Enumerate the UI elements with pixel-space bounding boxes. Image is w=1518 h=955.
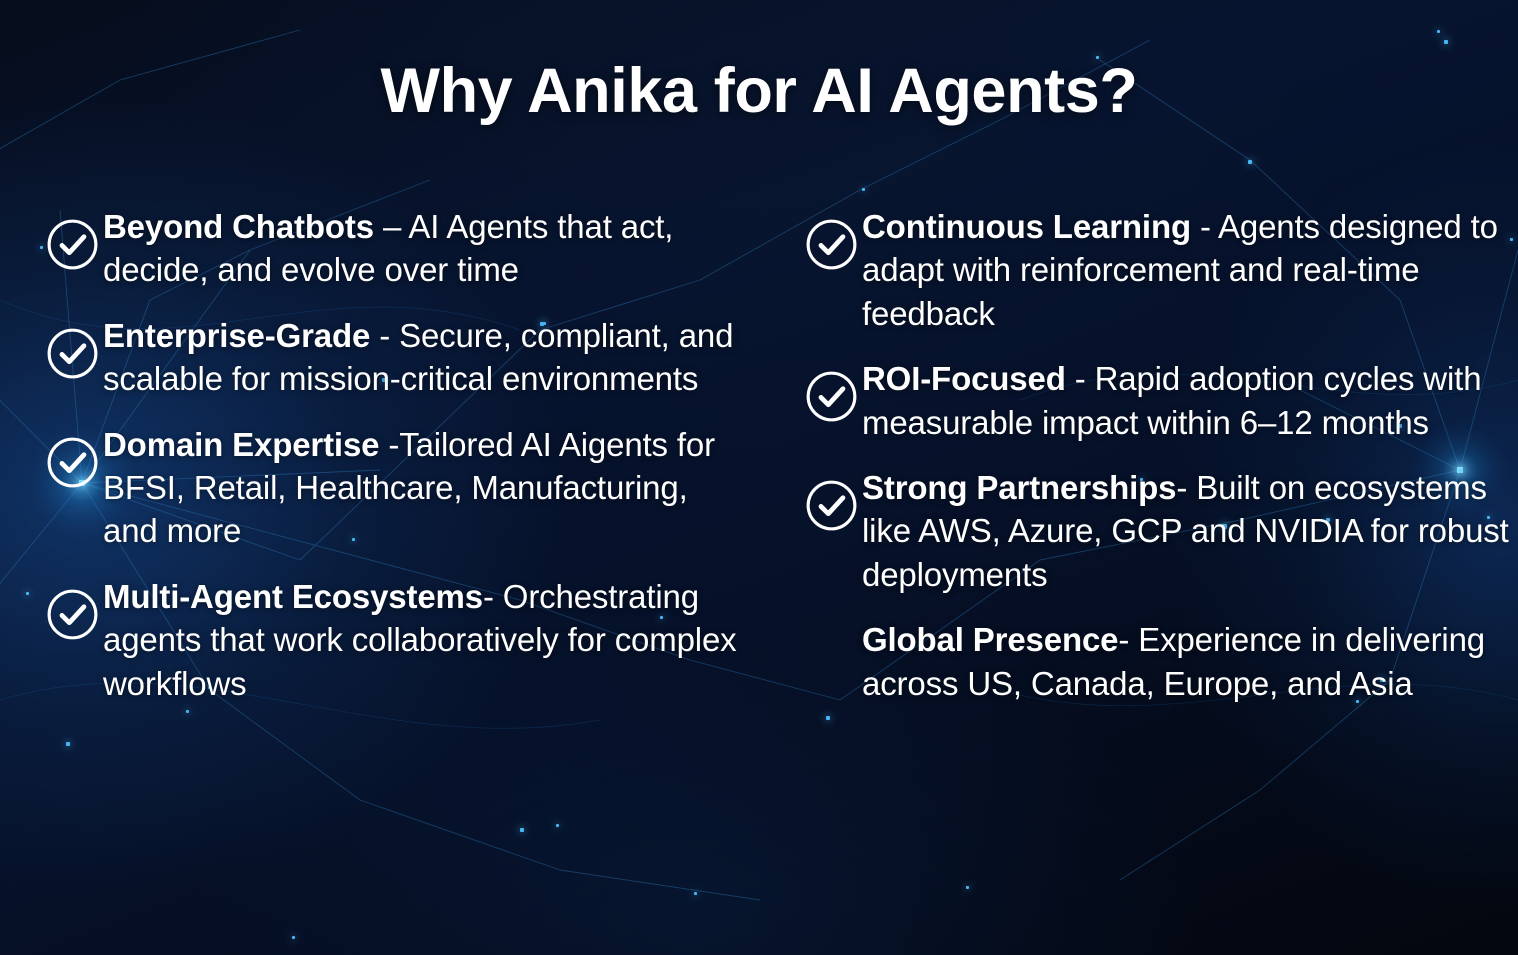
check-circle-icon [804,369,859,424]
benefit-item: Strong Partnerships- Built on ecosystems… [804,466,1510,596]
benefits-column-left: Beyond Chatbots – AI Agents that act, de… [0,205,759,727]
benefit-lead: Continuous Learning [862,208,1191,245]
check-slot [45,314,103,381]
benefit-item: Global Presence- Experience in deliverin… [804,618,1510,705]
benefit-lead: Beyond Chatbots [103,208,374,245]
check-circle-icon [804,478,859,533]
benefit-item: ROI-Focused - Rapid adoption cycles with… [804,357,1510,444]
benefit-item: Beyond Chatbots – AI Agents that act, de… [45,205,741,292]
slide-title-container: Why Anika for AI Agents? [0,58,1518,124]
benefit-text: Global Presence- Experience in deliverin… [862,618,1510,705]
check-circle-icon [45,217,100,272]
check-slot [804,205,862,272]
benefit-item: Enterprise-Grade - Secure, compliant, an… [45,314,741,401]
check-circle-icon [45,587,100,642]
benefit-item: Domain Expertise -Tailored AI Aigents fo… [45,423,741,553]
check-circle-icon [804,217,859,272]
check-slot [45,575,103,642]
benefit-item: Continuous Learning - Agents designed to… [804,205,1510,335]
benefit-text: Enterprise-Grade - Secure, compliant, an… [103,314,741,401]
check-circle-icon [45,435,100,490]
page-title: Why Anika for AI Agents? [381,58,1138,124]
check-slot [45,423,103,490]
benefits-columns: Beyond Chatbots – AI Agents that act, de… [0,205,1518,727]
benefit-text: Domain Expertise -Tailored AI Aigents fo… [103,423,741,553]
benefit-text: Strong Partnerships- Built on ecosystems… [862,466,1510,596]
check-slot [804,357,862,424]
benefit-text: ROI-Focused - Rapid adoption cycles with… [862,357,1510,444]
benefit-lead: Strong Partnerships [862,469,1176,506]
benefit-lead: Multi-Agent Ecosystems [103,578,483,615]
benefit-text: Beyond Chatbots – AI Agents that act, de… [103,205,741,292]
check-slot [804,466,862,533]
benefit-lead: Domain Expertise [103,426,379,463]
benefit-item: Multi-Agent Ecosystems- Orchestrating ag… [45,575,741,705]
benefit-text: Multi-Agent Ecosystems- Orchestrating ag… [103,575,741,705]
check-circle-icon [45,326,100,381]
benefit-lead: ROI-Focused [862,360,1066,397]
slide-root: Why Anika for AI Agents? Beyond Chatbots… [0,0,1518,955]
benefit-lead: Enterprise-Grade [103,317,370,354]
check-slot [45,205,103,272]
check-slot-empty [804,618,862,630]
benefit-lead: Global Presence [862,621,1118,658]
benefit-text: Continuous Learning - Agents designed to… [862,205,1510,335]
benefits-column-right: Continuous Learning - Agents designed to… [759,205,1518,727]
